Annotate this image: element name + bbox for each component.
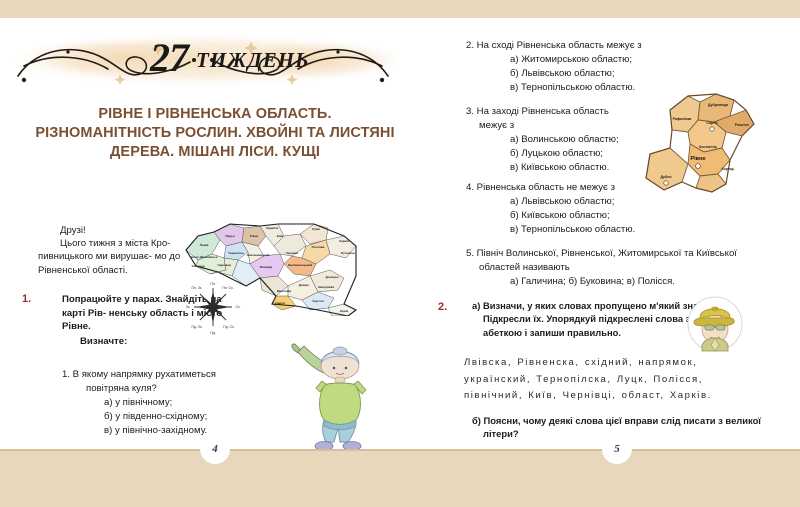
svg-text:Сх.: Сх. [235,305,240,309]
svg-text:Одеса: Одеса [275,301,285,305]
svg-text:Зх.: Зх. [186,305,191,309]
word-list-line-1: Лвівска, Рівненска, східний, напрямок, [464,355,784,372]
quiz-2-option-a[interactable]: а) Житомирською областю; [510,53,716,67]
svg-text:Дніпро: Дніпро [299,283,310,287]
svg-text:Рокитне: Рокитне [735,123,749,127]
page-number-right: 5 [602,434,632,464]
week-label: ТИЖДЕНЬ [196,48,309,73]
quiz-4-option-a[interactable]: а) Львівською областю; [510,195,716,209]
quiz-5-options[interactable]: а) Галичина; б) Буковина; в) Полісся. [510,275,756,289]
task-1-number: 1. [22,293,31,305]
svg-text:Костопіль: Костопіль [699,145,718,149]
quiz-2-option-b[interactable]: б) Львівською областю; [510,67,716,81]
task-2-number: 2. [438,301,447,313]
quiz-1-question-cont: повітряна куля? [86,382,262,396]
svg-text:Пд. Сх.: Пд. Сх. [223,325,234,329]
quiz-1-question: 1. В якому напрямку рухатиметься [62,368,262,382]
quiz-1-option-b[interactable]: б) у південно-східному; [104,410,262,424]
footer-rule [0,449,800,451]
svg-text:Херсон: Херсон [312,299,323,303]
left-page: 27 ТИЖДЕНЬ РІВНЕ І РІВНЕНСЬКА ОБЛАСТЬ. Р… [0,18,430,449]
svg-text:Чернівці: Чернівці [217,263,230,267]
svg-text:Полтава: Полтава [312,245,325,249]
svg-text:Сарни: Сарни [706,121,717,125]
quiz-1-option-a[interactable]: а) у північному; [104,396,262,410]
svg-text:Миколаїв: Миколаїв [277,289,291,293]
svg-text:Пд. Зх.: Пд. Зх. [192,325,203,329]
svg-text:Луцьк: Луцьк [225,234,235,238]
svg-text:Донецьк: Донецьк [325,275,339,279]
top-decor-band [0,0,800,18]
svg-text:Київ: Київ [277,234,284,238]
svg-text:Суми: Суми [312,227,320,231]
svg-text:Івано-Франківськ: Івано-Франківськ [191,255,218,259]
svg-text:Корець: Корець [721,167,735,171]
svg-text:Вінниця: Вінниця [260,265,273,269]
word-list: Лвівска, Рівненска, східний, напрямок, у… [464,355,784,405]
right-page: 2. На сході Рівненська область межує з а… [430,18,800,449]
word-list-line-3: північний, Київ, Чернівці, област, Харкі… [464,388,784,405]
quiz-3-question-cont: межує з [479,119,626,133]
svg-text:Хмельницький: Хмельницький [247,253,270,257]
svg-text:Крим: Крим [340,309,349,313]
svg-text:Кропивницький: Кропивницький [288,263,312,267]
quiz-5-question-cont: областей називають [479,261,756,275]
svg-text:Тернопіль: Тернопіль [228,251,244,255]
quiz-3-option-c[interactable]: в) Київською областю. [510,161,626,175]
page-title: РІВНЕ І РІВНЕНСЬКА ОБЛАСТЬ. РІЗНОМАНІТНІ… [30,105,400,162]
quiz-3-option-a[interactable]: а) Волинською областю; [510,133,626,147]
svg-text:Луганськ: Луганськ [341,251,355,255]
quiz-4-option-c[interactable]: в) Тернопільською областю. [510,223,716,237]
quiz-4-option-b[interactable]: б) Київською областю; [510,209,716,223]
svg-text:Львів: Львів [200,243,209,247]
quiz-5-question: 5. Північ Волинської, Рівненської, Житом… [466,247,756,261]
task-1-line-4: Рівне. [62,321,91,332]
svg-text:Дубно: Дубно [660,175,672,179]
svg-text:Пн.: Пн. [210,282,215,286]
quiz-question-5: 5. Північ Волинської, Рівненської, Житом… [466,247,756,289]
svg-text:Рівне: Рівне [690,156,705,162]
svg-text:Ужгород: Ужгород [192,264,205,268]
quiz-question-3: 3. На заході Рівненська область межує з … [466,105,626,175]
word-list-line-2: українский, Тернопілска, Луцк, Полісся, [464,372,784,389]
quiz-question-2: 2. На сході Рівненська область межує з а… [466,39,716,95]
quiz-2-question: 2. На сході Рівненська область межує з [466,39,716,53]
svg-text:Рівне: Рівне [250,234,259,238]
compass-rose-icon: Пн. Пд. Зх. Сх. Пн. Сх. Пн. Зх. Пд. Сх. … [184,278,242,336]
quiz-3-option-b[interactable]: б) Луцькою областю; [510,147,626,161]
svg-text:Пн. Зх.: Пн. Зх. [192,286,203,290]
rivne-oblast-map-icon: Рафалівка Дубровиця Сарни Рокитне Костоп… [630,90,785,195]
svg-text:Харків: Харків [339,239,349,243]
svg-text:Запоріжжя: Запоріжжя [318,285,335,289]
svg-text:Чернігів: Чернігів [266,226,279,230]
svg-text:Черкаси: Черкаси [286,251,299,255]
boy-pointing-up-icon [290,336,386,458]
explorer-boy-avatar-icon [686,295,744,353]
week-number: 27 [150,34,188,81]
svg-text:Пн. Сх.: Пн. Сх. [222,286,233,290]
book-spread: 27 ТИЖДЕНЬ РІВНЕ І РІВНЕНСЬКА ОБЛАСТЬ. Р… [0,0,800,507]
quiz-1-option-c[interactable]: в) у північно-західному. [104,424,262,438]
quiz-3-question: 3. На заході Рівненська область [466,105,626,119]
task-2b-line-1: б) Поясни, чому деякі слова цієї вправи … [472,415,761,426]
task-1-line-5: Визначте: [80,335,237,349]
bottom-decor-band: 4 5 [0,449,800,507]
task-1-line-1: Попрацюйте у парах. [62,294,163,305]
quiz-question-1: 1. В якому напрямку рухатиметься повітря… [62,368,262,438]
svg-text:Пд.: Пд. [210,331,215,335]
task-2-line-a1: а) Визначи, у яких словах пропущено м'як… [472,300,706,311]
svg-text:Рафалівка: Рафалівка [673,117,693,121]
page-number-left: 4 [200,434,230,464]
svg-text:Дубровиця: Дубровиця [708,103,728,107]
intro-line-2: пивницького ми вирушає- [38,251,152,262]
